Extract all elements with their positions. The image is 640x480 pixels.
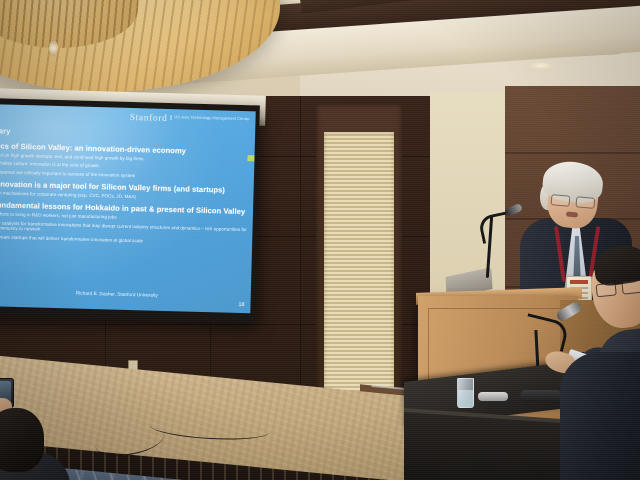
screen-border: Stanford US-Asia Technology Management C… [0,98,260,323]
stanford-wordmark: Stanford [130,114,168,125]
slatted-wall-panel [316,104,402,402]
slide-footer: ATMC Richard B. Dasher, Stanford Univers… [0,289,251,308]
slide-accent-tab [247,155,254,161]
slat-panel-surface [324,132,394,400]
table-microphone-base [520,390,562,402]
slide-page-number: 18 [238,302,244,308]
water-level [458,390,473,407]
presentation-slide: Stanford US-Asia Technology Management C… [0,104,256,313]
downlight-icon [530,62,552,69]
projection-screen: Stanford US-Asia Technology Management C… [0,98,260,323]
slide-body: Dynamics of Silicon Valley: an innovatio… [0,142,256,250]
ceiling-light-core [0,0,138,48]
atmc-center-name: US-Asia Technology Management Center [170,115,249,122]
stanford-logo: Stanford US-Asia Technology Management C… [130,114,250,127]
water-glass [457,378,474,408]
slide-footer-author: Richard B. Dasher, Stanford University [76,292,158,299]
ceiling-light-finial [49,40,58,56]
audience-head [0,408,44,472]
table-device [478,392,508,401]
panelist-torso [560,352,640,480]
conference-room-photo: Stanford US-Asia Technology Management C… [0,0,640,480]
slide-title: Summary [0,126,11,136]
